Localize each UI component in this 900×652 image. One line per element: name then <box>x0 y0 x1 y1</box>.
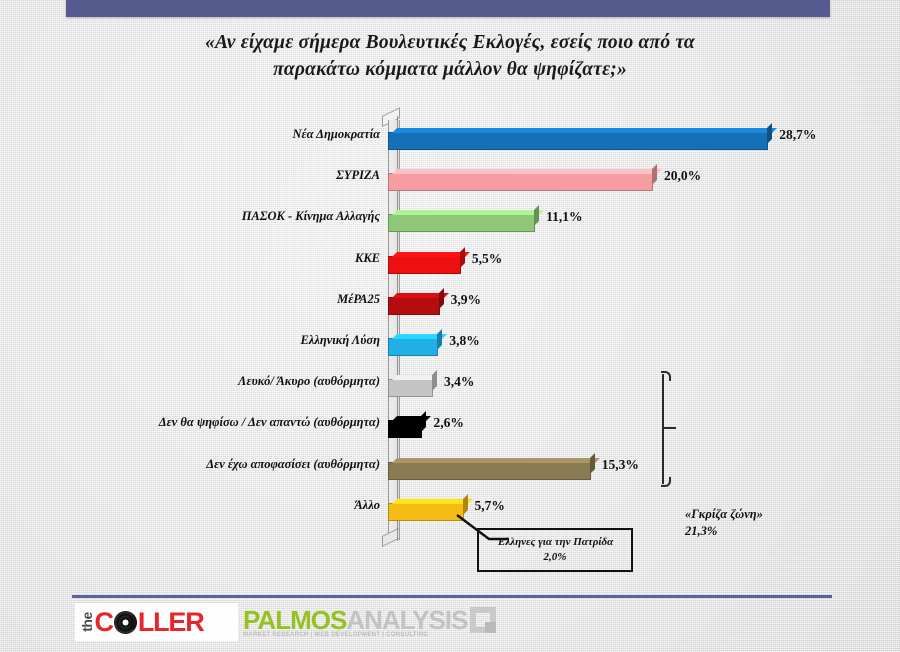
bar <box>388 379 433 397</box>
slide: «Αν είχαμε σήμερα Βουλευτικές Εκλογές, ε… <box>0 0 900 652</box>
coller-the-text: the <box>79 612 95 632</box>
bar-row: ΜέΡΑ253,9% <box>0 285 900 326</box>
bar <box>388 420 422 438</box>
bar-category-label: Δεν έχω αποφασίσει (αυθόρμητα) <box>206 457 380 472</box>
bar <box>388 297 440 315</box>
bar-value-label: 20,0% <box>664 168 701 184</box>
bar-category-label: ΣΥΡΙΖΑ <box>336 168 380 183</box>
bar-category-label: ΚΚΕ <box>355 251 380 266</box>
coller-wordmark: C LLER <box>95 607 204 638</box>
bar-category-label: Ελληνική Λύση <box>300 333 380 348</box>
grey-zone-bracket <box>651 371 677 487</box>
page-title: «Αν είχαμε σήμερα Βουλευτικές Εκλογές, ε… <box>120 30 780 84</box>
bar-value-label: 28,7% <box>779 127 816 143</box>
other-breakdown-callout: Έλληνες για την Πατρίδα 2,0% <box>477 528 633 572</box>
bar-category-label: ΠΑΣΟΚ - Κίνημα Αλλαγής <box>242 209 380 224</box>
bar-value-label: 3,9% <box>451 292 481 308</box>
bar-row: Δεν θα ψηφίσω / Δεν απαντώ (αυθόρμητα)2,… <box>0 408 900 449</box>
bar-row: Δεν έχω αποφασίσει (αυθόρμητα)15,3% <box>0 450 900 491</box>
bar-category-label: ΜέΡΑ25 <box>337 292 380 307</box>
bar <box>388 338 438 356</box>
coller-letters-ller: LLER <box>138 607 204 638</box>
footer-divider <box>72 595 832 598</box>
bar <box>388 214 535 232</box>
coller-logo: the C LLER <box>75 603 238 641</box>
grey-zone-value: 21,3% <box>685 523 763 540</box>
bar-value-label: 5,5% <box>472 251 502 267</box>
grey-zone-annotation: «Γκρίζα ζώνη» 21,3% <box>685 506 763 540</box>
bar-row: Ελληνική Λύση3,8% <box>0 326 900 367</box>
sound-waves-icon <box>128 613 140 631</box>
bar <box>388 462 591 480</box>
bar-row: Άλλο5,7% <box>0 491 900 532</box>
bar-category-label: Άλλο <box>354 498 380 513</box>
bar-category-label: Λευκό/ Άκυρο (αυθόρμητα) <box>238 374 380 389</box>
callout-value: 2,0% <box>544 550 567 565</box>
bar-row: ΣΥΡΙΖΑ20,0% <box>0 161 900 202</box>
title-line-1: «Αν είχαμε σήμερα Βουλευτικές Εκλογές, ε… <box>120 30 780 57</box>
bar <box>388 173 653 191</box>
bar-value-label: 3,8% <box>449 333 479 349</box>
bar-value-label: 15,3% <box>602 457 639 473</box>
palmos-tagline: MARKET RESEARCH | WEB DEVELOPMENT | CONS… <box>243 632 428 638</box>
bar-value-label: 3,4% <box>444 374 474 390</box>
vinyl-record-icon <box>114 611 137 634</box>
bar-category-label: Νέα Δημοκρατία <box>292 127 380 142</box>
coller-letter-c: C <box>95 607 113 638</box>
bar-value-label: 2,6% <box>433 415 463 431</box>
callout-label: Έλληνες για την Πατρίδα <box>497 535 613 550</box>
bar-row: ΚΚΕ5,5% <box>0 244 900 285</box>
bar-row: Λευκό/ Άκυρο (αυθόρμητα)3,4% <box>0 367 900 408</box>
bar <box>388 132 768 150</box>
title-line-2: παρακάτω κόμματα μάλλον θα ψηφίζατε;» <box>120 57 780 84</box>
bar <box>388 256 461 274</box>
header-bar <box>66 0 830 17</box>
bar-category-label: Δεν θα ψηφίσω / Δεν απαντώ (αυθόρμητα) <box>159 415 380 430</box>
bar-row: ΠΑΣΟΚ - Κίνημα Αλλαγής11,1% <box>0 202 900 243</box>
bar-value-label: 11,1% <box>546 209 582 225</box>
bar-row: Νέα Δημοκρατία28,7% <box>0 120 900 161</box>
bar-chart: Νέα Δημοκρατία28,7%ΣΥΡΙΖΑ20,0%ΠΑΣΟΚ - Κί… <box>0 108 900 563</box>
bar-value-label: 5,7% <box>475 498 505 514</box>
grey-zone-label: «Γκρίζα ζώνη» <box>685 506 763 523</box>
bar <box>388 503 464 521</box>
palmos-square-icon <box>470 607 496 633</box>
